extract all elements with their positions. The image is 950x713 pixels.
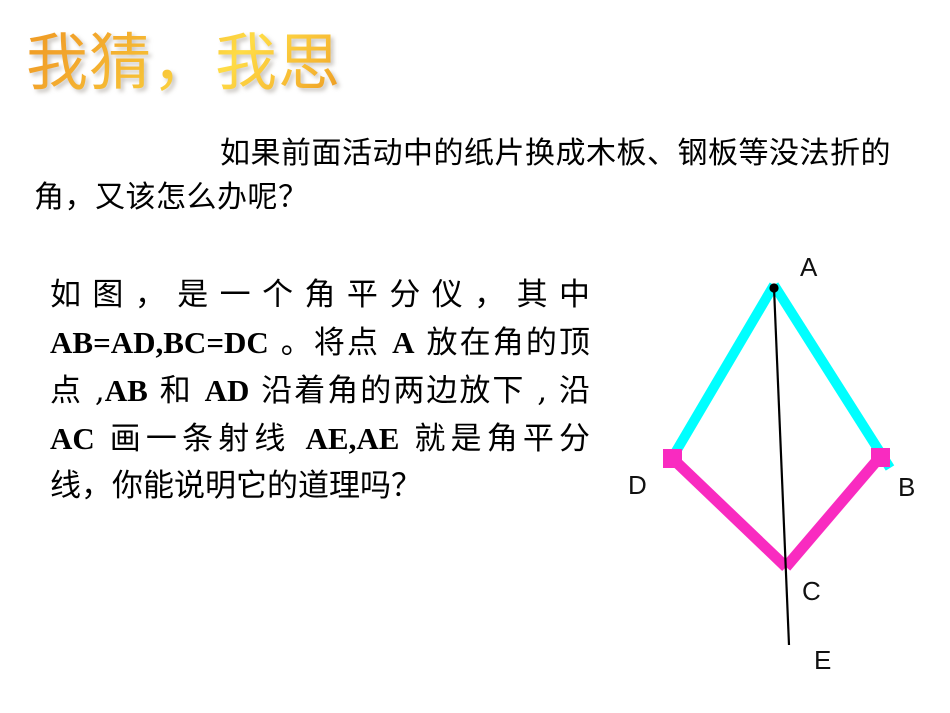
body-segment: 。将点: [269, 325, 392, 361]
body-segment: 沿着角的两边放下 , 沿: [249, 373, 590, 409]
point-label-B: B: [898, 472, 915, 502]
segment-AB-line: [774, 285, 890, 468]
joint-marker-B: [871, 448, 890, 467]
segment-AD-line: [668, 285, 774, 465]
point-label-D: D: [628, 470, 647, 500]
vertex-dot-A: [769, 283, 778, 292]
body-segment-latin: AD: [205, 373, 250, 408]
point-label-C: C: [802, 576, 821, 606]
body-segment: 如图，是一个角平分仪，其中: [50, 277, 590, 313]
segment-CB-line: [786, 457, 880, 567]
body-segment-latin: AC: [50, 421, 95, 456]
page-title: 我猜，我思: [26, 26, 341, 100]
ray-AE-line: [774, 288, 789, 645]
intro-paragraph: 如果前面活动中的纸片换成木板、钢板等没法折的角，又该怎么办呢？: [34, 132, 914, 220]
body-segment: 和: [148, 373, 205, 409]
body-segment-latin: AB: [105, 373, 148, 408]
point-label-A: A: [800, 252, 818, 282]
body-paragraph: 如图，是一个角平分仪，其中 AB=AD,BC=DC 。将点 A 放在角的顶点 ,…: [50, 272, 590, 510]
angle-bisector-figure: A D B C E: [608, 244, 950, 696]
point-label-E: E: [814, 645, 831, 675]
body-segment: 画一条射线: [95, 421, 306, 457]
joint-marker-D: [663, 449, 682, 468]
body-segment-latin: A: [392, 325, 414, 360]
body-segment-latin: AE,AE: [306, 421, 400, 456]
body-segment-latin: AB=AD,BC=DC: [50, 325, 269, 360]
segment-DC-line: [672, 458, 786, 567]
